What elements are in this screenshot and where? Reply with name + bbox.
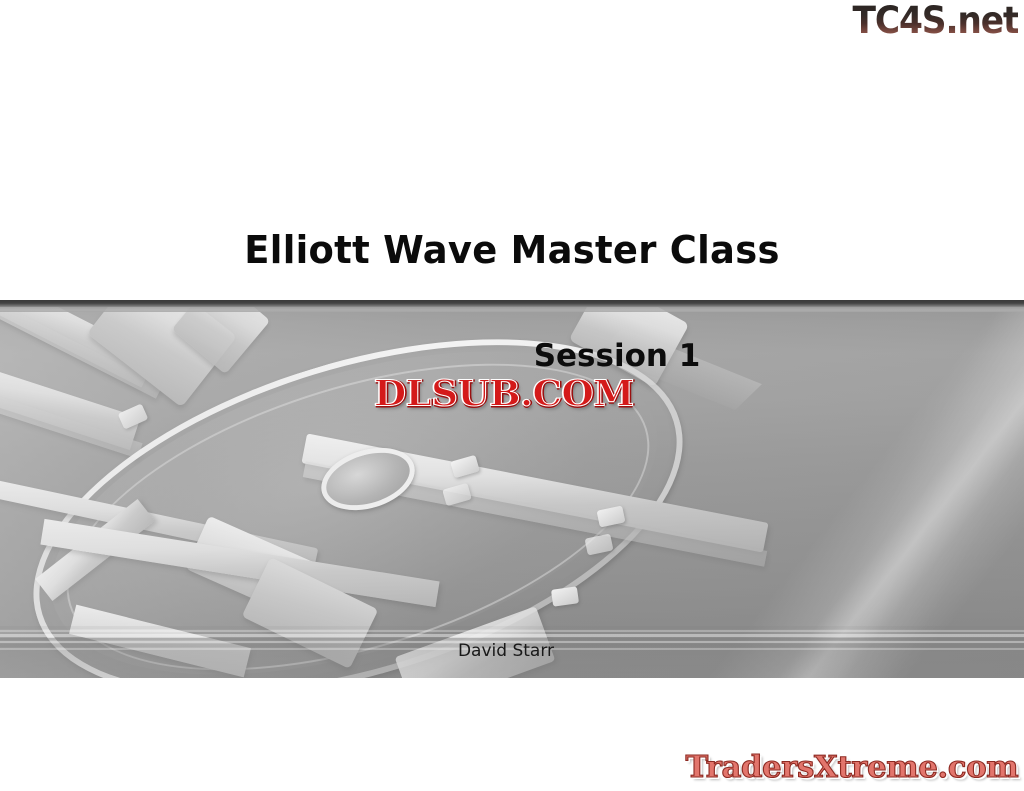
scan-line (0, 634, 1024, 637)
band-top-highlight (0, 307, 1024, 312)
scan-line (0, 638, 1024, 640)
tc4s-watermark: TC4S.net (852, 2, 1018, 39)
tradersxtreme-watermark: TradersXtreme.com (685, 750, 1018, 785)
scan-line (0, 626, 1024, 629)
page-title: Elliott Wave Master Class (15, 228, 1008, 272)
dlsub-watermark: DLSUB.COM (374, 373, 634, 415)
presentation-slide: TC4S.net Elliott Wave Master Class (0, 0, 1024, 791)
scan-line (0, 630, 1024, 632)
slide-subtitle: Session 1 (0, 338, 1024, 374)
band-top-edge (0, 300, 1024, 307)
author-name: David Starr (0, 641, 1024, 661)
